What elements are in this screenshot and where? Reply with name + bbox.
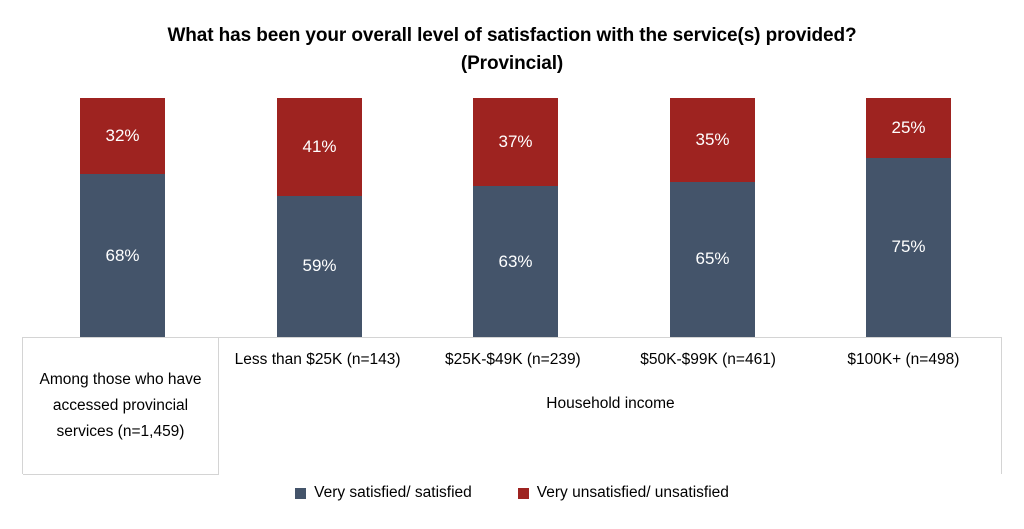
legend-label-unsatisfied: Very unsatisfied/ unsatisfied	[537, 483, 729, 503]
bar-group-25k-49k[interactable]: 37% 63%	[473, 98, 558, 337]
bar-segment-unsatisfied[interactable]: 25%	[866, 98, 951, 158]
bar-value-label-unsatisfied: 25%	[891, 118, 925, 138]
bar-value-label-satisfied: 68%	[105, 246, 139, 266]
bar-value-label-unsatisfied: 35%	[695, 130, 729, 150]
legend-label-satisfied: Very satisfied/ satisfied	[314, 483, 472, 503]
chart-title-line2: (Provincial)	[0, 50, 1024, 78]
axis-label-overall: Among those who have accessed provincial…	[23, 367, 218, 445]
bar-group-50k-99k[interactable]: 35% 65%	[670, 98, 755, 337]
bar-value-label-satisfied: 65%	[695, 249, 729, 269]
bar-value-label-unsatisfied: 37%	[498, 132, 532, 152]
chart-plot-area: 32% 68% 41% 59% 37% 63% 35% 65%	[0, 98, 1024, 337]
bar-segment-satisfied[interactable]: 63%	[473, 186, 558, 337]
chart-legend: Very satisfied/ satisfied Very unsatisfi…	[0, 483, 1024, 503]
legend-swatch-icon-unsatisfied	[518, 488, 529, 499]
legend-item-unsatisfied[interactable]: Very unsatisfied/ unsatisfied	[518, 483, 729, 503]
category-axis-table: Among those who have accessed provincial…	[22, 337, 1002, 474]
bar-segment-unsatisfied[interactable]: 35%	[670, 98, 755, 182]
axis-tick-50k-99k: $50K-$99K (n=461)	[611, 338, 806, 382]
page-title: What has been your overall level of sati…	[0, 22, 1024, 78]
bar-segment-satisfied[interactable]: 65%	[670, 182, 755, 337]
bar-value-label-unsatisfied: 32%	[105, 126, 139, 146]
axis-tick-label: Less than $25K (n=143)	[235, 350, 401, 370]
legend-item-satisfied[interactable]: Very satisfied/ satisfied	[295, 483, 472, 503]
bar-group-100k-plus[interactable]: 25% 75%	[866, 98, 951, 337]
axis-tick-label: $50K-$99K (n=461)	[640, 350, 776, 370]
axis-cell-overall: Among those who have accessed provincial…	[23, 338, 219, 475]
bar-segment-unsatisfied[interactable]: 37%	[473, 98, 558, 186]
bar-segment-satisfied[interactable]: 68%	[80, 174, 165, 337]
axis-income-tick-row: Less than $25K (n=143) $25K-$49K (n=239)…	[220, 338, 1001, 382]
chart-title-line1: What has been your overall level of sati…	[167, 25, 856, 46]
axis-income-group-row: Household income	[220, 382, 1001, 426]
bar-value-label-satisfied: 63%	[498, 252, 532, 272]
legend-swatch-icon-satisfied	[295, 488, 306, 499]
axis-tick-less-than-25k: Less than $25K (n=143)	[220, 338, 415, 382]
bar-value-label-satisfied: 59%	[302, 256, 336, 276]
bar-segment-satisfied[interactable]: 75%	[866, 158, 951, 337]
axis-tick-label: $100K+ (n=498)	[847, 350, 959, 370]
axis-group-label-household-income: Household income	[546, 394, 674, 414]
bar-segment-satisfied[interactable]: 59%	[277, 196, 362, 337]
bar-group-overall[interactable]: 32% 68%	[80, 98, 165, 337]
axis-tick-25k-49k: $25K-$49K (n=239)	[415, 338, 610, 382]
bar-group-less-than-25k[interactable]: 41% 59%	[277, 98, 362, 337]
axis-tick-100k-plus: $100K+ (n=498)	[806, 338, 1001, 382]
bar-value-label-satisfied: 75%	[891, 237, 925, 257]
bar-value-label-unsatisfied: 41%	[302, 137, 336, 157]
bar-segment-unsatisfied[interactable]: 41%	[277, 98, 362, 196]
axis-tick-label: $25K-$49K (n=239)	[445, 350, 581, 370]
bar-segment-unsatisfied[interactable]: 32%	[80, 98, 165, 174]
